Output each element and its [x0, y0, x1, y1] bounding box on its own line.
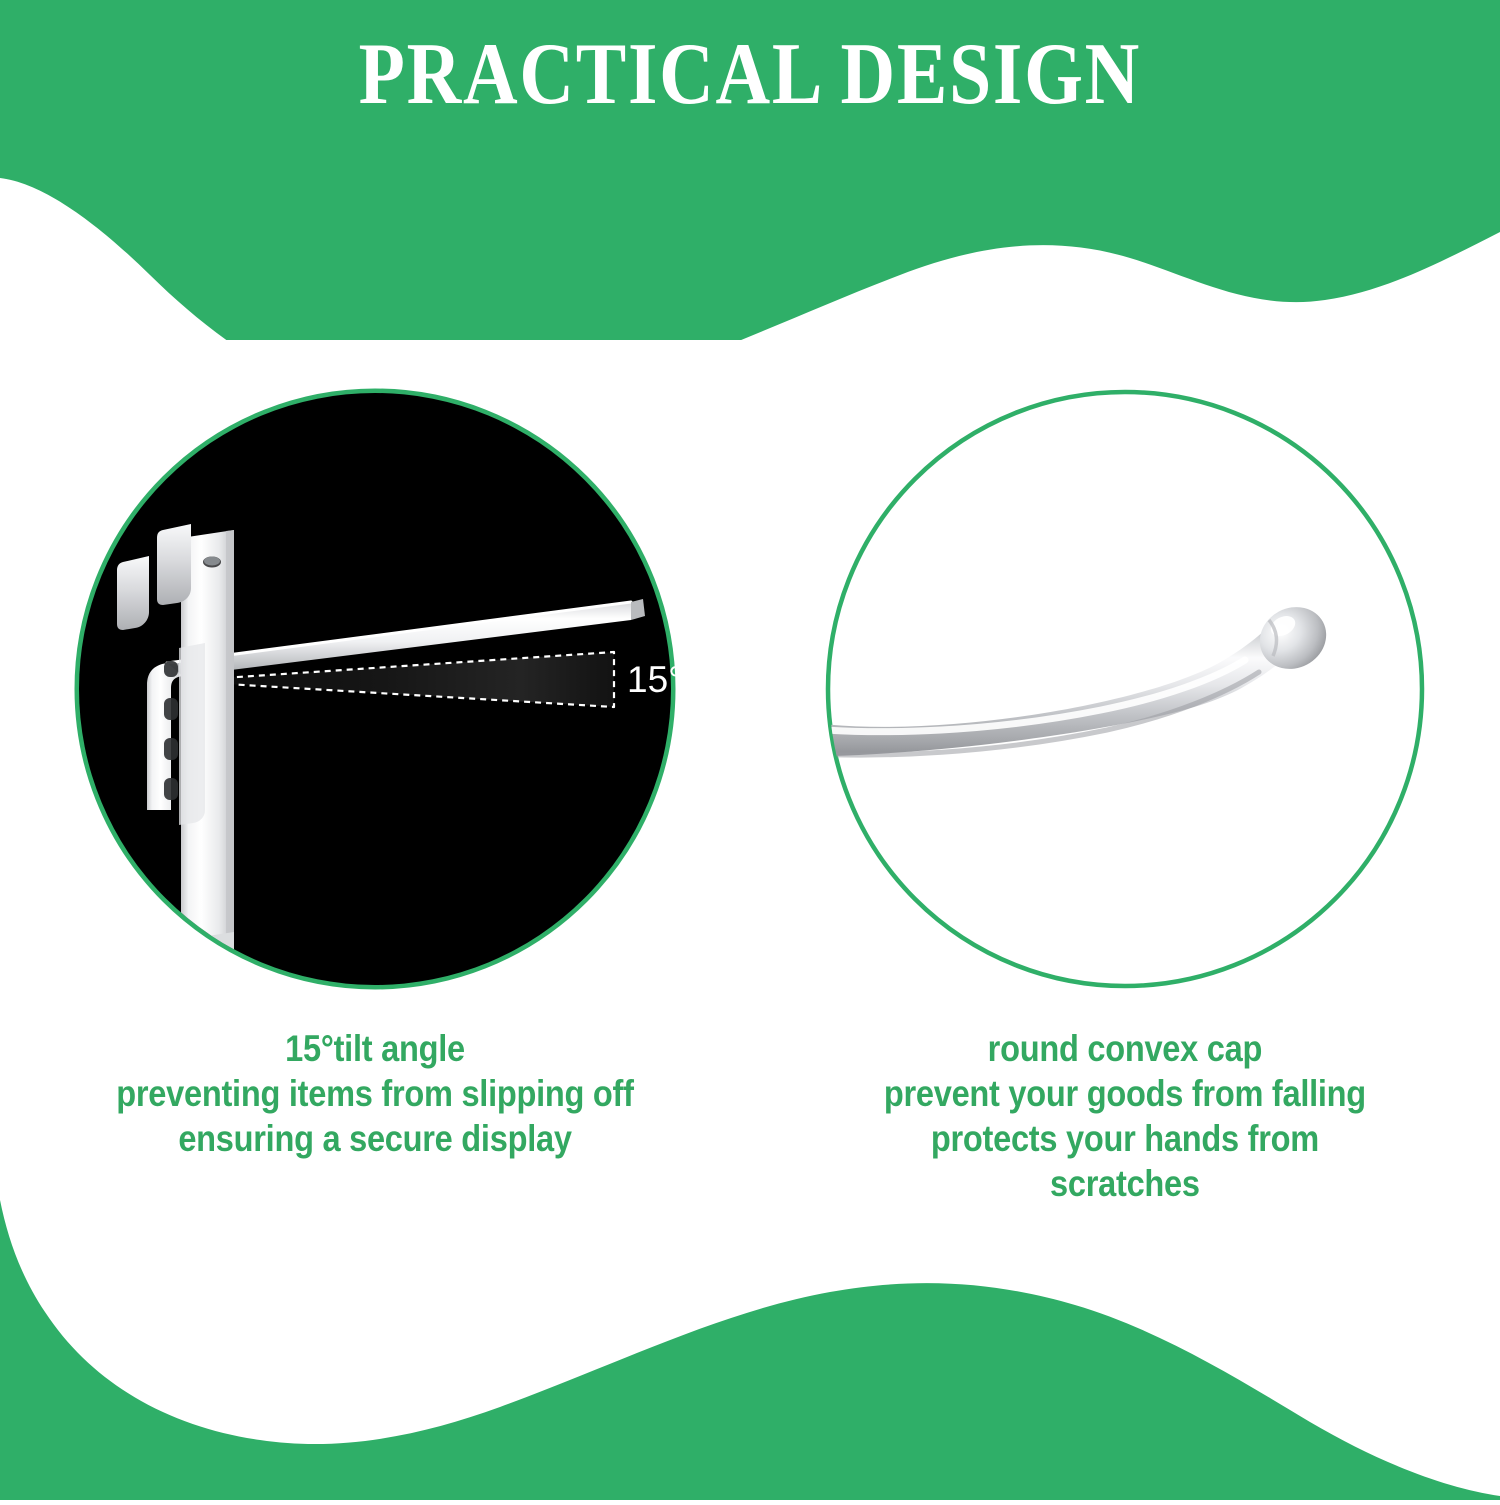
tilt-hook-illustration — [71, 380, 679, 998]
caption-line: protects your hands from — [884, 1116, 1366, 1161]
caption-line: round convex cap — [884, 1026, 1366, 1071]
angle-badge-label: 15° — [627, 659, 679, 700]
feature-panels: 15° 15°tilt angle preventing items from … — [0, 380, 1500, 1280]
convex-circle-ring — [828, 392, 1422, 986]
caption-line: ensuring a secure display — [116, 1116, 633, 1161]
tilt-angle-image: 15° — [71, 380, 679, 998]
feature-panel-tilt-angle: 15° 15°tilt angle preventing items from … — [0, 380, 750, 1280]
caption-line: scratches — [884, 1161, 1366, 1206]
caption-line: 15°tilt angle — [116, 1026, 633, 1071]
header-banner: PRACTICAL DESIGN — [0, 0, 1500, 150]
caption-line: preventing items from slipping off — [116, 1071, 633, 1116]
feature-panel-convex-cap: round convex cap prevent your goods from… — [750, 380, 1500, 1280]
convex-cap-caption: round convex cap prevent your goods from… — [884, 1026, 1366, 1207]
caption-line: prevent your goods from falling — [884, 1071, 1366, 1116]
page-title: PRACTICAL DESIGN — [359, 31, 1141, 119]
convex-cap-image — [821, 380, 1429, 998]
infographic-page: PRACTICAL DESIGN — [0, 0, 1500, 1500]
tilt-angle-caption: 15°tilt angle preventing items from slip… — [116, 1026, 633, 1161]
